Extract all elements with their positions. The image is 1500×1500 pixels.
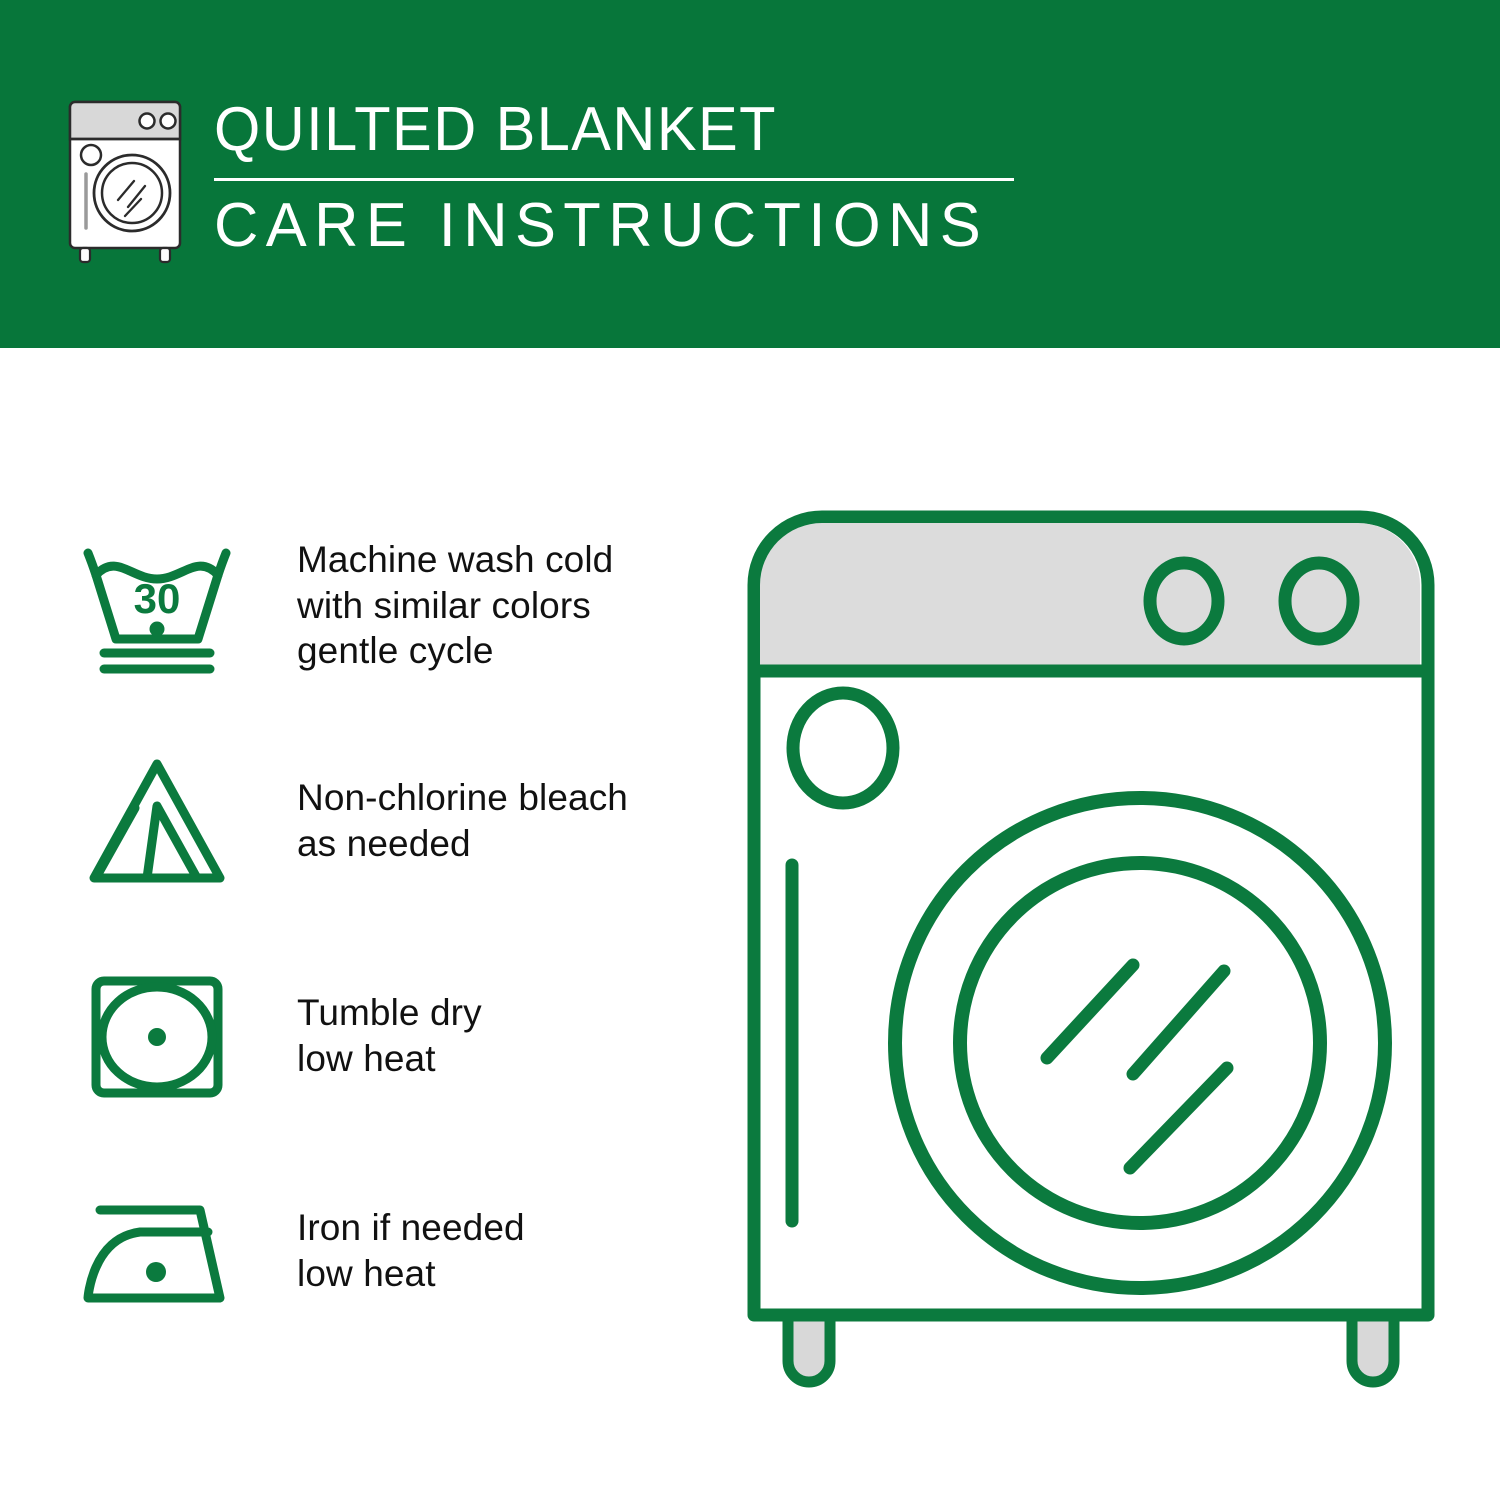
list-item: Iron if needed low heat — [70, 1143, 710, 1358]
front-load-washing-machine-illustration — [740, 503, 1440, 1423]
list-item-label: Iron if needed low heat — [245, 1205, 525, 1297]
list-item-label: Machine wash cold with similar colors ge… — [245, 537, 613, 675]
wash-temperature-label: 30 — [134, 575, 181, 622]
wash-tub-30-gentle-icon: 30 — [70, 531, 245, 681]
tumble-dry-low-icon — [70, 961, 245, 1111]
list-item: Non-chlorine bleach as needed — [70, 713, 710, 928]
list-item-label: Tumble dry low heat — [245, 990, 482, 1082]
title-divider — [214, 178, 1014, 181]
list-item: 30 Machine wash cold with similar colors… — [70, 498, 710, 713]
body-area: 30 Machine wash cold with similar colors… — [0, 348, 1500, 1500]
washing-machine-icon — [62, 96, 192, 264]
header-banner: QUILTED BLANKET CARE INSTRUCTIONS — [0, 0, 1500, 348]
title-block: QUILTED BLANKET CARE INSTRUCTIONS — [214, 96, 1014, 257]
header-content: QUILTED BLANKET CARE INSTRUCTIONS — [62, 96, 1014, 264]
list-item-label: Non-chlorine bleach as needed — [245, 775, 628, 867]
iron-low-heat-icon — [70, 1176, 245, 1326]
non-chlorine-bleach-triangle-icon — [70, 746, 245, 896]
care-instruction-list: 30 Machine wash cold with similar colors… — [70, 498, 710, 1358]
list-item: Tumble dry low heat — [70, 928, 710, 1143]
page-title: QUILTED BLANKET — [214, 98, 982, 162]
page-subtitle: CARE INSTRUCTIONS — [214, 195, 1006, 257]
care-instructions-page: QUILTED BLANKET CARE INSTRUCTIONS — [0, 0, 1500, 1500]
